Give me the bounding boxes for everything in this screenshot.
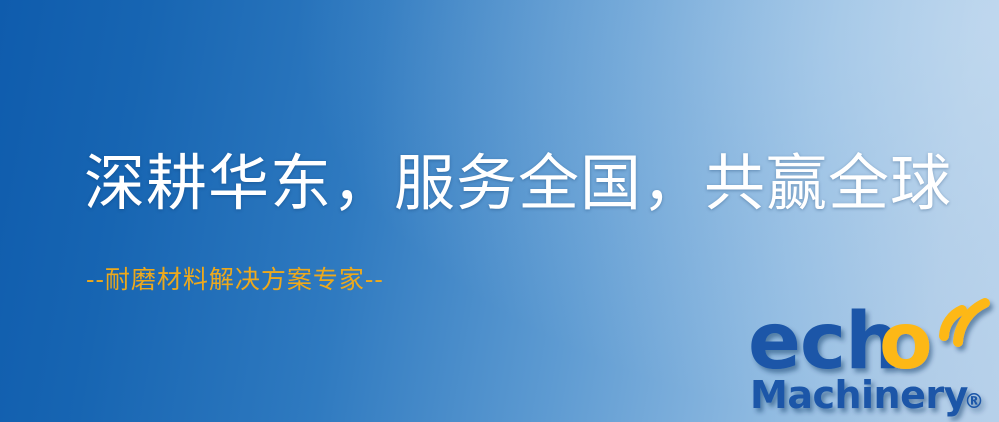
banner-subheadline: --耐磨材料解决方案专家-- [86,266,384,294]
echo-machinery-logo[interactable]: ech o Machinery ® echo Machinery [748,296,999,422]
signal-waves-icon [944,303,985,342]
banner-headline: 深耕华东，服务全国，共赢全球 [84,152,952,216]
logo-subtitle: Machinery [750,373,969,417]
hero-banner: 深耕华东，服务全国，共赢全球 --耐磨材料解决方案专家-- ech o Mach… [0,0,999,422]
registered-trademark-icon: ® [964,389,984,413]
